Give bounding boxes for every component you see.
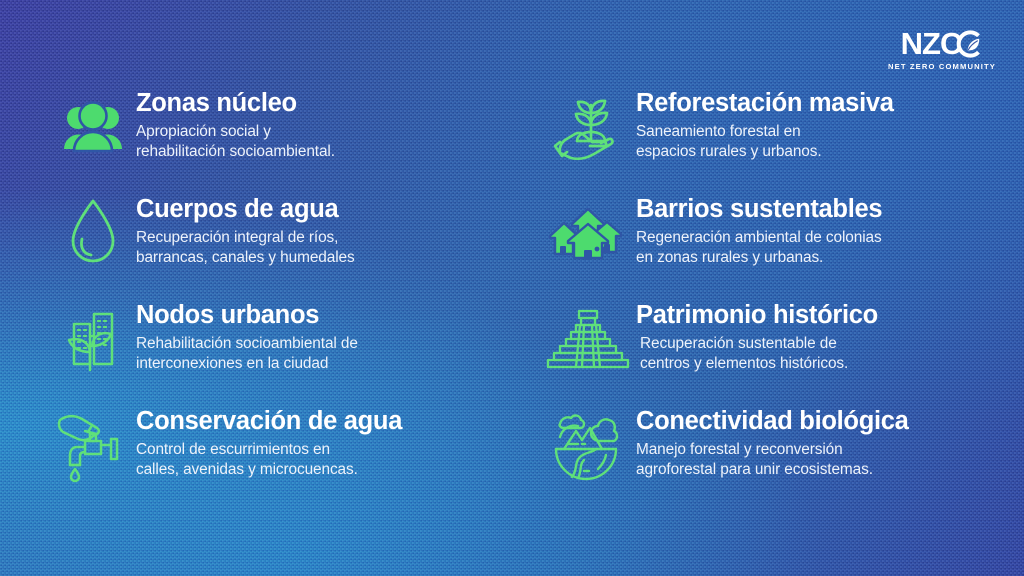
feature-title: Patrimonio histórico — [636, 302, 878, 329]
desc-line: Regeneración ambiental de colonias — [636, 228, 882, 248]
desc-line: rehabilitación socioambiental. — [136, 142, 335, 162]
feature-description: Regeneración ambiental de colonias en zo… — [636, 228, 882, 269]
feature-text: Conservación de agua Control de escurrim… — [136, 404, 402, 481]
logo-mark: NZC — [901, 28, 984, 59]
feature-item-conectividad-biologica: Conectividad biológica Manejo forestal y… — [540, 404, 1024, 510]
feature-item-conservacion-de-agua: Conservación de agua Control de escurrim… — [50, 404, 540, 510]
logo-tagline: NET ZERO COMMUNITY — [888, 62, 996, 71]
feature-item-reforestacion-masiva: Reforestación masiva Saneamiento foresta… — [540, 86, 1024, 192]
feature-text: Cuerpos de agua Recuperación integral de… — [136, 192, 355, 269]
nzc-logo: NZC NET ZERO COMMUNITY — [888, 28, 996, 71]
feature-description: Apropiación social y rehabilitación soci… — [136, 122, 335, 163]
hand-faucet-drop-icon — [50, 404, 136, 486]
desc-line: interconexiones en la ciudad — [136, 354, 358, 374]
desc-line: centros y elementos históricos. — [640, 354, 878, 374]
water-drop-icon — [50, 192, 136, 274]
feature-title: Cuerpos de agua — [136, 196, 355, 223]
step-pyramid-icon — [540, 298, 636, 380]
feature-item-nodos-urbanos: Nodos urbanos Rehabilitación socioambien… — [50, 298, 540, 404]
city-buildings-leaf-icon — [50, 298, 136, 380]
feature-title: Conservación de agua — [136, 408, 402, 435]
feature-title: Conectividad biológica — [636, 408, 909, 435]
desc-line: calles, avenidas y microcuencas. — [136, 460, 402, 480]
globe-forest-icon — [540, 404, 636, 486]
features-grid: Zonas núcleo Apropiación social y rehabi… — [0, 86, 1024, 510]
people-group-icon — [50, 86, 136, 168]
feature-text: Nodos urbanos Rehabilitación socioambien… — [136, 298, 358, 375]
desc-line: en zonas rurales y urbanas. — [636, 248, 882, 268]
desc-line: barrancas, canales y humedales — [136, 248, 355, 268]
feature-text: Conectividad biológica Manejo forestal y… — [636, 404, 909, 481]
feature-description: Recuperación sustentable de centros y el… — [636, 334, 878, 375]
desc-line: Saneamiento forestal en — [636, 122, 894, 142]
desc-line: Rehabilitación socioambiental de — [136, 334, 358, 354]
desc-line: Recuperación integral de ríos, — [136, 228, 355, 248]
feature-item-cuerpos-de-agua: Cuerpos de agua Recuperación integral de… — [50, 192, 540, 298]
feature-item-patrimonio-historico: Patrimonio histórico Recuperación susten… — [540, 298, 1024, 404]
feature-item-barrios-sustentables: Barrios sustentables Regeneración ambien… — [540, 192, 1024, 298]
feature-text: Patrimonio histórico Recuperación susten… — [636, 298, 878, 375]
feature-title: Zonas núcleo — [136, 90, 335, 117]
feature-description: Rehabilitación socioambiental de interco… — [136, 334, 358, 375]
desc-line: espacios rurales y urbanos. — [636, 142, 894, 162]
leaf-c-icon — [953, 29, 983, 59]
feature-description: Control de escurrimientos en calles, ave… — [136, 440, 402, 481]
feature-item-zonas-nucleo: Zonas núcleo Apropiación social y rehabi… — [50, 86, 540, 192]
feature-description: Manejo forestal y reconversión agrofores… — [636, 440, 909, 481]
hand-holding-sprout-icon — [540, 86, 636, 168]
feature-text: Zonas núcleo Apropiación social y rehabi… — [136, 86, 335, 163]
feature-title: Reforestación masiva — [636, 90, 894, 117]
houses-cluster-icon — [540, 192, 636, 274]
logo-wordmark: NZC — [901, 28, 962, 59]
feature-text: Barrios sustentables Regeneración ambien… — [636, 192, 882, 269]
desc-line: agroforestal para unir ecosistemas. — [636, 460, 909, 480]
feature-description: Recuperación integral de ríos, barrancas… — [136, 228, 355, 269]
desc-line: Manejo forestal y reconversión — [636, 440, 909, 460]
desc-line: Apropiación social y — [136, 122, 335, 142]
feature-title: Nodos urbanos — [136, 302, 358, 329]
feature-text: Reforestación masiva Saneamiento foresta… — [636, 86, 894, 163]
desc-line: Control de escurrimientos en — [136, 440, 402, 460]
feature-description: Saneamiento forestal en espacios rurales… — [636, 122, 894, 163]
feature-title: Barrios sustentables — [636, 196, 882, 223]
desc-line: Recuperación sustentable de — [640, 334, 878, 354]
